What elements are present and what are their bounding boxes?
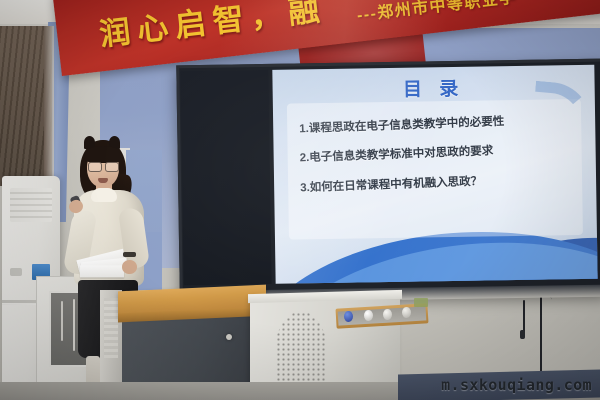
control-knob[interactable] <box>402 307 411 318</box>
right-hand <box>122 260 137 274</box>
cable-plug <box>520 330 525 339</box>
watermark: m.sxkouqiang.com <box>441 376 592 394</box>
speaker-grille-icon <box>276 312 326 384</box>
control-knob[interactable] <box>383 309 392 320</box>
wristwatch <box>123 252 136 257</box>
podium-knob[interactable] <box>226 334 232 340</box>
hair-fringe <box>84 146 122 163</box>
equipment-box-tag <box>414 298 428 307</box>
air-conditioner-vent <box>10 188 52 222</box>
podium-front-panel <box>122 313 264 390</box>
control-knob-blue[interactable] <box>344 311 353 322</box>
slide-bullet-list: 1.课程思政在电子信息类教学中的必要性 2.电子信息类教学标准中对思政的要求 3… <box>299 115 580 208</box>
classroom-display[interactable]: 目 录 1.课程思政在电子信息类教学中的必要性 2.电子信息类教学标准中对思政的… <box>176 59 600 294</box>
banner-main-text: 润心启智，融 <box>97 0 329 54</box>
control-knob[interactable] <box>364 310 373 321</box>
list-item: 2.电子信息类教学标准中对思政的要求 <box>299 141 579 166</box>
air-conditioner-brand <box>10 268 22 276</box>
presentation-slide: 目 录 1.课程思政在电子信息类教学中的必要性 2.电子信息类教学标准中对思政的… <box>272 65 597 284</box>
glasses-icon <box>88 162 118 170</box>
turtleneck-collar <box>91 188 117 202</box>
curtain-edge <box>44 26 54 186</box>
display-blackboard-area <box>180 70 271 285</box>
list-item: 3.如何在日常课程中有机融入思政？ <box>300 171 580 196</box>
banner-sub-text: ---郑州市中等职业学 <box>355 0 517 26</box>
classroom-photo: 润心启智，融 ---郑州市中等职业学 目 录 1.课程思政在电子信息类教学中的必… <box>0 0 600 400</box>
slide-title: 目 录 <box>272 72 594 104</box>
mouth <box>98 178 108 183</box>
cable <box>540 296 542 380</box>
podium-side-texture <box>104 298 118 358</box>
